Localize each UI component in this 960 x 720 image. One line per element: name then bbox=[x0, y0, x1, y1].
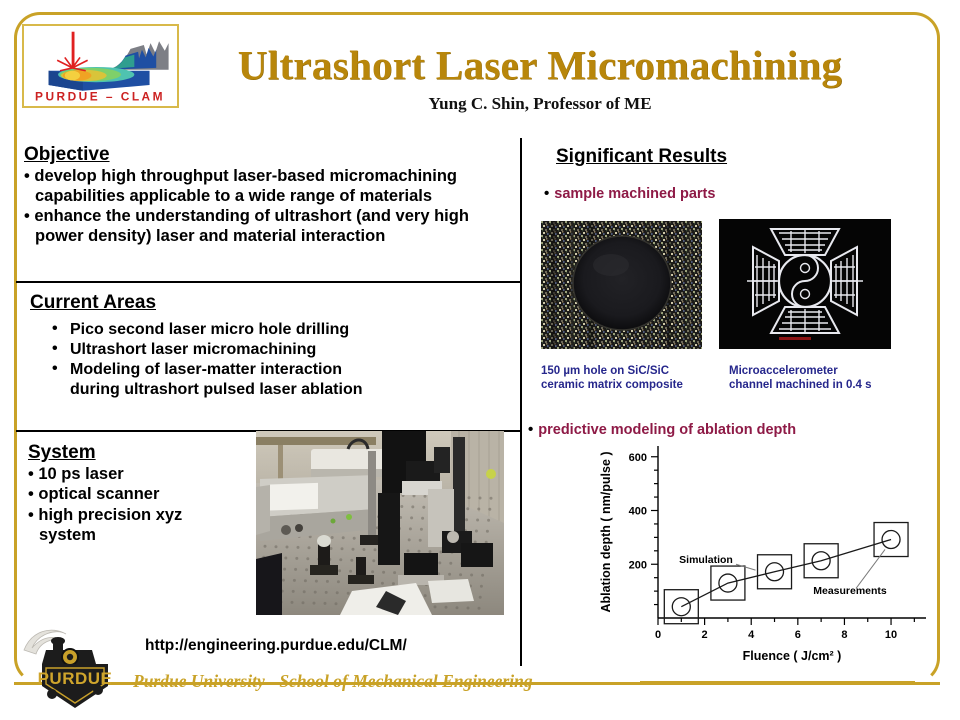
website-url[interactable]: http://engineering.purdue.edu/CLM/ bbox=[145, 637, 407, 655]
system-line-2: • optical scanner bbox=[28, 484, 268, 504]
caption-line-1: Microaccelerometer bbox=[729, 365, 838, 377]
sic-hole-caption: 150 µm hole on SiC/SiC ceramic matrix co… bbox=[541, 364, 716, 393]
svg-text:4: 4 bbox=[748, 629, 755, 641]
objective-line-3: • enhance the understanding of ultrashor… bbox=[24, 206, 514, 226]
svg-text:200: 200 bbox=[629, 559, 647, 571]
svg-text:6: 6 bbox=[795, 629, 801, 641]
purdue-clam-logo: PURDUE – CLAM bbox=[22, 24, 179, 108]
bullet-dot-icon: • bbox=[544, 185, 549, 202]
ablation-depth-chart-svg: 2004006000246810SimulationMeasurementsFl… bbox=[588, 436, 938, 668]
results-bullet-sample-label: sample machined parts bbox=[554, 186, 715, 202]
footer-gold-rule bbox=[640, 681, 915, 684]
footer-institution: Purdue University - School of Mechanical… bbox=[133, 671, 533, 692]
svg-text:Measurements: Measurements bbox=[813, 585, 887, 597]
page-subtitle: Yung C. Shin, Professor of ME bbox=[190, 94, 890, 114]
svg-text:Ablation depth ( nm/pulse ): Ablation depth ( nm/pulse ) bbox=[599, 451, 613, 612]
sic-hole-micrograph bbox=[541, 221, 702, 349]
list-item-line-1: Modeling of laser-matter interaction bbox=[70, 361, 342, 378]
list-item: Ultrashort laser micromachining bbox=[52, 340, 510, 360]
svg-text:8: 8 bbox=[841, 629, 847, 641]
objective-heading: Objective bbox=[24, 144, 110, 166]
caption-line-1: 150 µm hole on SiC/SiC bbox=[541, 365, 669, 377]
objective-line-1: • develop high throughput laser-based mi… bbox=[24, 166, 514, 186]
system-line-4: system bbox=[28, 525, 268, 545]
page-title: Ultrashort Laser Micromachining bbox=[190, 44, 890, 87]
svg-text:600: 600 bbox=[629, 452, 647, 464]
significant-results-heading: Significant Results bbox=[556, 146, 727, 168]
purdue-train-logo: PURDUE bbox=[22, 624, 122, 712]
microaccelerometer-caption: Microaccelerometer channel machined in 0… bbox=[729, 364, 914, 393]
microaccelerometer-micrograph bbox=[719, 219, 891, 349]
current-areas-list: Pico second laser micro hole drilling Ul… bbox=[30, 320, 510, 401]
list-item: Pico second laser micro hole drilling bbox=[52, 320, 510, 340]
list-item-line-2: during ultrashort pulsed laser ablation bbox=[70, 381, 362, 398]
current-areas-heading: Current Areas bbox=[30, 292, 156, 314]
objective-line-4: power density) laser and material intera… bbox=[24, 226, 514, 246]
svg-text:PURDUE: PURDUE bbox=[38, 669, 113, 688]
objective-section: Objective • develop high throughput lase… bbox=[24, 144, 514, 247]
system-heading: System bbox=[28, 442, 96, 464]
lab-photo-graphic bbox=[256, 431, 504, 615]
current-areas-section: Current Areas Pico second laser micro ho… bbox=[30, 292, 510, 401]
list-item: Modeling of laser-matter interaction dur… bbox=[52, 360, 510, 400]
system-line-3: • high precision xyz bbox=[28, 505, 268, 525]
system-section: System • 10 ps laser • optical scanner •… bbox=[28, 442, 268, 545]
objective-line-2: capabilities applicable to a wide range … bbox=[24, 186, 514, 206]
svg-text:2: 2 bbox=[702, 629, 708, 641]
ablation-depth-chart: 2004006000246810SimulationMeasurementsFl… bbox=[588, 436, 938, 668]
section-divider-1 bbox=[16, 281, 522, 283]
svg-text:10: 10 bbox=[885, 629, 897, 641]
svg-text:PURDUE – CLAM: PURDUE – CLAM bbox=[35, 89, 165, 103]
system-line-1: • 10 ps laser bbox=[28, 464, 268, 484]
svg-text:Simulation: Simulation bbox=[679, 554, 733, 566]
sic-hole-graphic bbox=[541, 221, 702, 349]
svg-text:0: 0 bbox=[655, 629, 661, 641]
laser-system-photo bbox=[256, 431, 504, 615]
poster-slide: PURDUE – CLAM Ultrashort Laser Micromach… bbox=[0, 0, 960, 720]
microaccelerometer-graphic bbox=[719, 219, 891, 349]
caption-line-2: channel machined in 0.4 s bbox=[729, 379, 872, 391]
purdue-train-graphic: PURDUE bbox=[22, 624, 122, 712]
svg-text:Fluence ( J/cm² ): Fluence ( J/cm² ) bbox=[743, 649, 842, 663]
caption-line-2: ceramic matrix composite bbox=[541, 379, 683, 391]
svg-text:400: 400 bbox=[629, 506, 647, 518]
bullet-dot-icon: • bbox=[528, 421, 533, 438]
clam-logo-graphic: PURDUE – CLAM bbox=[24, 26, 177, 106]
significant-results-section: Significant Results bbox=[556, 146, 727, 168]
results-bullet-sample: •sample machined parts bbox=[544, 185, 715, 202]
column-divider bbox=[520, 138, 522, 666]
